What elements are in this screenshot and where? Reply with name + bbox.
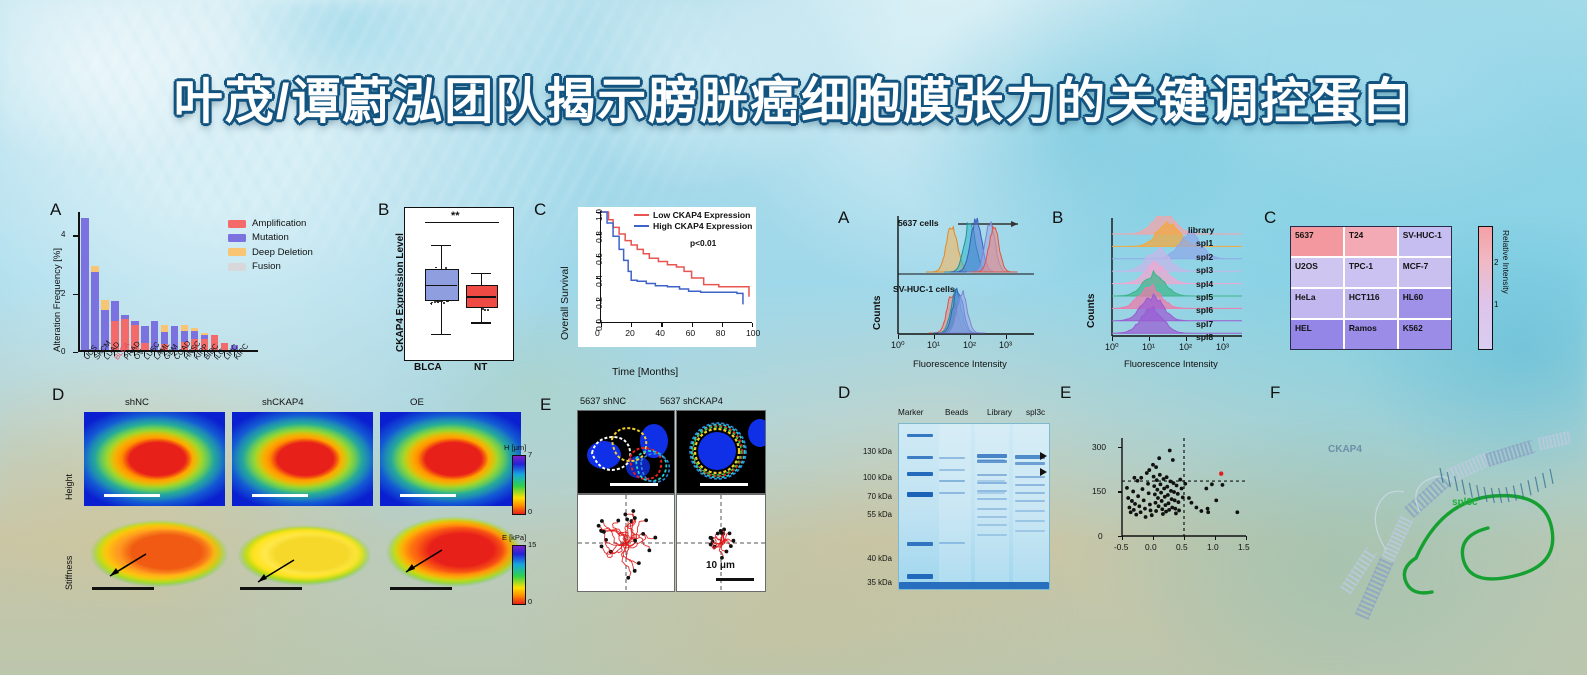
volcano-x-tick (1184, 536, 1185, 540)
volcano-x-tick (1215, 536, 1216, 540)
volcano-point (1159, 491, 1163, 495)
heatmap-cell: T24 (1345, 227, 1397, 256)
afm-row-height: Height (64, 474, 74, 500)
x-tick (144, 352, 145, 356)
right-b-ylabel: Counts (1086, 294, 1097, 328)
gel-band (1015, 484, 1045, 486)
volcano-y-tick-label: 150 (1092, 486, 1106, 496)
gel-band (1015, 476, 1045, 478)
gel-band (1015, 462, 1045, 465)
gel-band (977, 524, 1007, 526)
heatmap-cell-label: MCF-7 (1403, 261, 1429, 271)
volcano-point (1181, 495, 1185, 499)
gel-band (977, 534, 1007, 536)
volcano-point (1133, 476, 1137, 480)
heatmap-cell: SV-HUC-1 (1399, 227, 1451, 256)
figure-title: 叶茂/谭蔚泓团队揭示膀胱癌细胞膜张力的关键调控蛋白 (0, 62, 1587, 133)
heatmap-cell: HeLa (1291, 289, 1343, 318)
volcano-point (1152, 484, 1156, 488)
c-x-tick (631, 323, 632, 327)
panel-c-pvalue: p<0.01 (690, 238, 716, 248)
colorbar-height-min: 0 (528, 507, 532, 516)
heatmap-cell: K562 (1399, 320, 1451, 349)
x-tick (164, 352, 165, 356)
right-a-x-tick (898, 335, 899, 339)
volcano-x-tick (1122, 536, 1123, 540)
volcano-point (1136, 479, 1140, 483)
afm-height-shckap4 (232, 412, 373, 506)
volcano-point (1154, 501, 1158, 505)
x-tick (214, 352, 215, 356)
legend-swatch (228, 248, 246, 256)
right-b-x-tick (1186, 337, 1187, 341)
volcano-point (1132, 508, 1136, 512)
right-panel-a-flow (890, 212, 1034, 340)
volcano-point (1128, 506, 1132, 510)
volcano-point (1157, 456, 1161, 460)
ridge-label-spl3: spl3 (1196, 265, 1213, 275)
right-a-x-tick-label: 10¹ (927, 340, 940, 350)
panel-label-e-left: E (540, 395, 551, 415)
gel-band (977, 498, 1007, 500)
gel-mw-label: 70 kDa (840, 492, 892, 501)
volcano-point (1129, 510, 1133, 514)
gel-band (907, 574, 933, 579)
heatmap-cell: 5637 (1291, 227, 1343, 256)
colorbar-stiffness-min: 0 (528, 597, 532, 606)
volcano-point (1161, 512, 1165, 516)
gel-arrow-1 (1040, 452, 1047, 460)
legend-label: Fusion (252, 261, 281, 272)
scalebar-e2 (700, 483, 748, 486)
ridge-label-spl1: spl1 (1196, 238, 1213, 248)
scalebar-e1 (610, 483, 658, 486)
gel-mw-label: 100 kDa (840, 473, 892, 482)
gel-band (977, 454, 1007, 458)
data-point (443, 302, 445, 304)
right-b-x-tick (1149, 337, 1150, 341)
heatmap-cell-label: U2OS (1295, 261, 1318, 271)
x-tick (194, 352, 195, 356)
volcano-x-tick (1246, 536, 1247, 540)
c-x-tick-label: 60 (686, 328, 696, 338)
bar-segment (91, 272, 99, 350)
afm-height-oe (380, 412, 521, 506)
volcano-point (1174, 512, 1178, 516)
volcano-point (1173, 507, 1177, 511)
volcano-point (1173, 498, 1177, 502)
x-tick (124, 352, 125, 356)
aptamer-spl3c (1404, 468, 1553, 593)
significance-stars: ** (451, 210, 460, 222)
gel-band (939, 469, 965, 471)
volcano-point (1172, 481, 1176, 485)
gel-band (907, 542, 933, 546)
right-a-x-tick-label: 10² (963, 340, 976, 350)
scalebar-s3 (390, 587, 452, 590)
x-tick (174, 352, 175, 356)
heatmap-cell-label: HCT116 (1349, 292, 1380, 302)
cell-line-heatmap: 5637T24SV-HUC-1U2OSTPC-1MCF-7HeLaHCT116H… (1290, 226, 1452, 350)
boxplot-category-blca: BLCA (414, 362, 442, 373)
volcano-point (1126, 496, 1130, 500)
volcano-y-tick-label: 300 (1092, 442, 1106, 452)
x-tick (84, 352, 85, 356)
gel-lane-bg (1013, 424, 1049, 589)
panel-label-a-left: A (50, 200, 61, 220)
gel-band (1015, 500, 1045, 502)
panel-label-d-left: D (52, 385, 64, 405)
heatmap-cell: HEL (1291, 320, 1343, 349)
volcano-point (1144, 515, 1148, 519)
volcano-point (1149, 509, 1153, 513)
heatmap-cell-label: 5637 (1295, 230, 1314, 240)
volcano-point (1171, 458, 1175, 462)
stiffness-arrow-2 (396, 542, 456, 582)
bar-segment (161, 325, 169, 332)
gel-band (1015, 520, 1045, 522)
c-y-tick-label: 0.4 (594, 275, 604, 287)
box-whisker-cap-1 (431, 334, 451, 335)
heatmap-cell: HL60 (1399, 289, 1451, 318)
legend-swatch (228, 263, 246, 271)
scalebar-h1 (104, 494, 160, 497)
y-axis (78, 212, 80, 352)
gel-band (939, 457, 965, 459)
afm-row-stiffness: Stiffness (64, 556, 74, 590)
x-tick (94, 352, 95, 356)
gel-lane-Marker: Marker (898, 408, 923, 417)
panel-label-d-right: D (838, 383, 850, 403)
x-tick (134, 352, 135, 356)
data-point (484, 309, 486, 311)
heatmap-cb-tick-2: 2 (1494, 258, 1498, 267)
gel-mw-label: 40 kDa (840, 554, 892, 563)
volcano-point (1155, 478, 1159, 482)
colorbar-stiffness-label: E [kPa] (502, 533, 526, 542)
right-b-xlabel: Fluorescence Intensity (1124, 358, 1218, 369)
c-y-tick-label: 0.0 (594, 319, 604, 331)
gel-mw-label: 35 kDa (840, 578, 892, 587)
c-y-tick-label: 0.8 (594, 231, 604, 243)
panel-b-boxplot: ** (404, 207, 514, 361)
ridge-label-library: library (1188, 225, 1214, 235)
volcano-point (1160, 507, 1164, 511)
legend-item: Amplification (228, 218, 313, 229)
x-tick (204, 352, 205, 356)
docking-model (1290, 400, 1570, 630)
volcano-plot (1100, 432, 1248, 552)
gel-lane-bg (975, 424, 1009, 589)
bar (141, 326, 149, 351)
volcano-point (1154, 509, 1158, 513)
volcano-x-tick-label: 0.0 (1145, 542, 1157, 552)
volcano-x-tick-label: 1.0 (1207, 542, 1219, 552)
box-whisker-lower (481, 306, 482, 323)
volcano-point (1178, 478, 1182, 482)
volcano-point (1165, 485, 1169, 489)
bar-segment (101, 300, 109, 309)
volcano-point (1158, 473, 1162, 477)
right-b-x-tick-label: 10¹ (1142, 342, 1155, 352)
y-tick (73, 235, 78, 236)
volcano-y-tick-label: 0 (1098, 531, 1103, 541)
gel-arrow-2 (1040, 468, 1047, 476)
panel-label-b-right: B (1052, 208, 1063, 228)
volcano-point (1160, 499, 1164, 503)
volcano-point (1139, 476, 1143, 480)
legend-label: Mutation (252, 232, 289, 243)
colorbar-height-max: 7 (528, 450, 532, 459)
legend-item: High CKAP4 Expression (634, 221, 752, 231)
ridge-label-spl8: spl8 (1196, 332, 1213, 342)
x-tick (234, 352, 235, 356)
volcano-y-tick (1118, 491, 1122, 492)
ridge-label-spl4: spl4 (1196, 279, 1213, 289)
right-a-ylabel: Counts (872, 296, 883, 330)
sds-page-gel (898, 423, 1050, 590)
right-a-x-tick (1006, 335, 1007, 339)
c-y-tick-label: 1.0 (594, 209, 604, 221)
y-tick (73, 294, 78, 295)
panel-label-a-right: A (838, 208, 849, 228)
gel-band (977, 460, 1007, 463)
ridge-trace (1112, 285, 1242, 309)
volcano-point (1153, 493, 1157, 497)
panel-c-legend: Low CKAP4 ExpressionHigh CKAP4 Expressio… (634, 210, 752, 232)
volcano-point (1204, 487, 1208, 491)
right-b-x-tick (1223, 337, 1224, 341)
volcano-point (1134, 513, 1138, 517)
y-tick (73, 352, 78, 353)
legend-label: Deep Deletion (252, 247, 313, 258)
y-tick-label: 2 (61, 289, 65, 298)
gel-lane-spl3c: spl3c (1026, 408, 1045, 417)
right-b-x-tick-label: 10³ (1216, 342, 1229, 352)
heatmap-cell-label: T24 (1349, 230, 1363, 240)
ridge-label-spl2: spl2 (1196, 252, 1213, 262)
bar-segment (141, 326, 149, 344)
volcano-point (1130, 499, 1134, 503)
legend-item: Low CKAP4 Expression (634, 210, 752, 220)
legend-swatch (228, 220, 246, 228)
volcano-point (1157, 504, 1161, 508)
heatmap-cell-label: HL60 (1403, 292, 1423, 302)
volcano-point (1143, 507, 1147, 511)
x-tick (114, 352, 115, 356)
legend-item: Deep Deletion (228, 247, 313, 258)
boxplot-category-nt: NT (474, 362, 487, 373)
c-x-axis (600, 322, 752, 323)
bar-segment (81, 218, 89, 351)
panel-label-c-left: C (534, 200, 546, 220)
panel-e-col-shnc: 5637 shNC (580, 396, 626, 406)
c-y-tick-label: 0.6 (594, 253, 604, 265)
c-x-tick (722, 323, 723, 327)
volcano-point (1167, 508, 1171, 512)
volcano-point (1235, 510, 1239, 514)
legend-label: Low CKAP4 Expression (653, 210, 750, 220)
panel-e-col-shckap4: 5637 shCKAP4 (660, 396, 723, 406)
gel-mw-label: 55 kDa (840, 510, 892, 519)
gel-band (939, 492, 965, 494)
volcano-point (1175, 484, 1179, 488)
ridge-label-spl5: spl5 (1196, 292, 1213, 302)
volcano-point (1177, 509, 1181, 513)
legend-swatch (228, 234, 246, 242)
gel-band (1015, 530, 1045, 532)
volcano-point (1206, 510, 1210, 514)
box-whisker-upper (441, 245, 442, 270)
heatmap-cell: TPC-1 (1345, 258, 1397, 287)
ridge-label-spl7: spl7 (1196, 319, 1213, 329)
scalebar-s2 (240, 587, 302, 590)
legend-label: High CKAP4 Expression (653, 221, 752, 231)
volcano-point (1147, 491, 1151, 495)
scalebar-h3 (400, 494, 456, 497)
heatmap-cell: HCT116 (1345, 289, 1397, 318)
box-median (425, 285, 457, 287)
volcano-point (1190, 501, 1194, 505)
volcano-point (1137, 504, 1141, 508)
confocal-shnc-svg (578, 411, 674, 493)
colorbar-stiffness-max: 15 (528, 540, 536, 549)
box-whisker-upper (481, 273, 482, 285)
gel-band (977, 482, 1007, 484)
gel-band (977, 474, 1007, 476)
volcano-point (1156, 496, 1160, 500)
volcano-point (1148, 503, 1152, 507)
gel-band (907, 456, 933, 459)
panel-c-ylabel: Overall Survival (559, 266, 571, 340)
volcano-point (1172, 490, 1176, 494)
volcano-point (1183, 482, 1187, 486)
volcano-point (1151, 463, 1155, 467)
gel-band (899, 582, 1049, 589)
gel-band (939, 480, 965, 482)
legend-label: Amplification (252, 218, 306, 229)
flow-group-5637: 5637 cells (898, 218, 939, 228)
gel-band (977, 508, 1007, 510)
volcano-point (1152, 475, 1156, 479)
box-whisker-cap-1 (471, 322, 491, 323)
heatmap-colorbar-label: Relative Intensity (1501, 230, 1511, 294)
significance-bracket (425, 222, 499, 223)
flow-group-svhuc1: SV-HUC-1 cells (893, 284, 955, 294)
volcano-point (1206, 507, 1210, 511)
gel-band (977, 516, 1007, 518)
colorbar-height (512, 455, 526, 515)
volcano-point (1166, 493, 1170, 497)
ridge-trace (1112, 261, 1242, 283)
heatmap-cell-label: HeLa (1295, 292, 1315, 302)
gel-lane-bg (939, 424, 971, 589)
volcano-point (1145, 471, 1149, 475)
c-x-tick-label: 80 (716, 328, 726, 338)
panel-a-ylabel: Alteration Frequency [%] (52, 248, 63, 352)
right-panel-b-ridge (1102, 216, 1242, 342)
heatmap-cell-label: SV-HUC-1 (1403, 230, 1442, 240)
heatmap-colorbar (1478, 226, 1493, 350)
afm-col-shnc: shNC (125, 397, 149, 408)
afm-height-shnc (84, 412, 225, 506)
heatmap-cell-label: Ramos (1349, 323, 1377, 333)
bar (91, 266, 99, 350)
volcano-x-tick-label: 0.5 (1176, 542, 1188, 552)
panel-label-e-right: E (1060, 383, 1071, 403)
afm-col-oe: OE (410, 397, 424, 408)
data-point (434, 301, 436, 303)
data-point (431, 303, 433, 305)
c-x-tick (692, 323, 693, 327)
heatmap-cell-label: K562 (1403, 323, 1423, 333)
volcano-point (1131, 490, 1135, 494)
right-b-x-tick-label: 10⁰ (1105, 342, 1119, 353)
panel-c-xlabel: Time [Months] (612, 366, 678, 378)
gel-mw-label: 130 kDa (840, 447, 892, 456)
x-tick (184, 352, 185, 356)
stiffness-arrow-1 (248, 552, 308, 592)
bar (81, 218, 89, 351)
volcano-point (1180, 487, 1184, 491)
volcano-x-tick (1153, 536, 1154, 540)
volcano-point (1210, 482, 1214, 486)
volcano-point (1125, 486, 1129, 490)
data-point (487, 309, 489, 311)
gel-band (907, 492, 933, 497)
right-a-x-tick-label: 10⁰ (891, 340, 905, 351)
gel-lane-Library: Library (987, 408, 1012, 417)
panel-label-b-left: B (378, 200, 389, 220)
volcano-point (1150, 513, 1154, 517)
legend-line (634, 214, 649, 217)
box-median (466, 296, 496, 298)
right-a-x-tick (934, 335, 935, 339)
c-y-tick-label: 0.2 (594, 297, 604, 309)
volcano-point (1165, 475, 1169, 479)
right-a-x-tick-label: 10³ (999, 340, 1012, 350)
afm-col-shckap4: shCKAP4 (262, 397, 304, 408)
docking-protein-label: CKAP4 (1328, 444, 1362, 455)
volcano-point-ckap4 (1219, 471, 1223, 475)
volcano-point (1176, 492, 1180, 496)
right-a-xlabel: Fluorescence Intensity (913, 358, 1007, 369)
volcano-point (1187, 496, 1191, 500)
volcano-y-tick (1118, 536, 1122, 537)
volcano-point (1142, 498, 1146, 502)
gel-band (907, 472, 933, 476)
bar-segment (111, 301, 119, 321)
heatmap-cell-label: HEL (1295, 323, 1312, 333)
volcano-point (1136, 494, 1140, 498)
panel-label-c-right: C (1264, 208, 1276, 228)
x-tick (154, 352, 155, 356)
gel-band (939, 542, 965, 544)
gel-band (977, 492, 1005, 494)
heatmap-cell-label: TPC-1 (1349, 261, 1373, 271)
volcano-point (1159, 482, 1163, 486)
panel-label-f-right: F (1270, 383, 1280, 403)
y-tick-label: 0 (61, 347, 65, 356)
panel-a-legend: AmplificationMutationDeep DeletionFusion (228, 218, 313, 276)
figure-canvas: 叶茂/谭蔚泓团队揭示膀胱癌细胞膜张力的关键调控蛋白 A Alteration F… (0, 0, 1587, 675)
confocal-shnc (577, 410, 675, 494)
gel-band (907, 434, 933, 437)
x-tick (224, 352, 225, 356)
legend-line (634, 225, 649, 228)
c-x-tick-label: 20 (625, 328, 635, 338)
volcano-point (1199, 509, 1203, 513)
